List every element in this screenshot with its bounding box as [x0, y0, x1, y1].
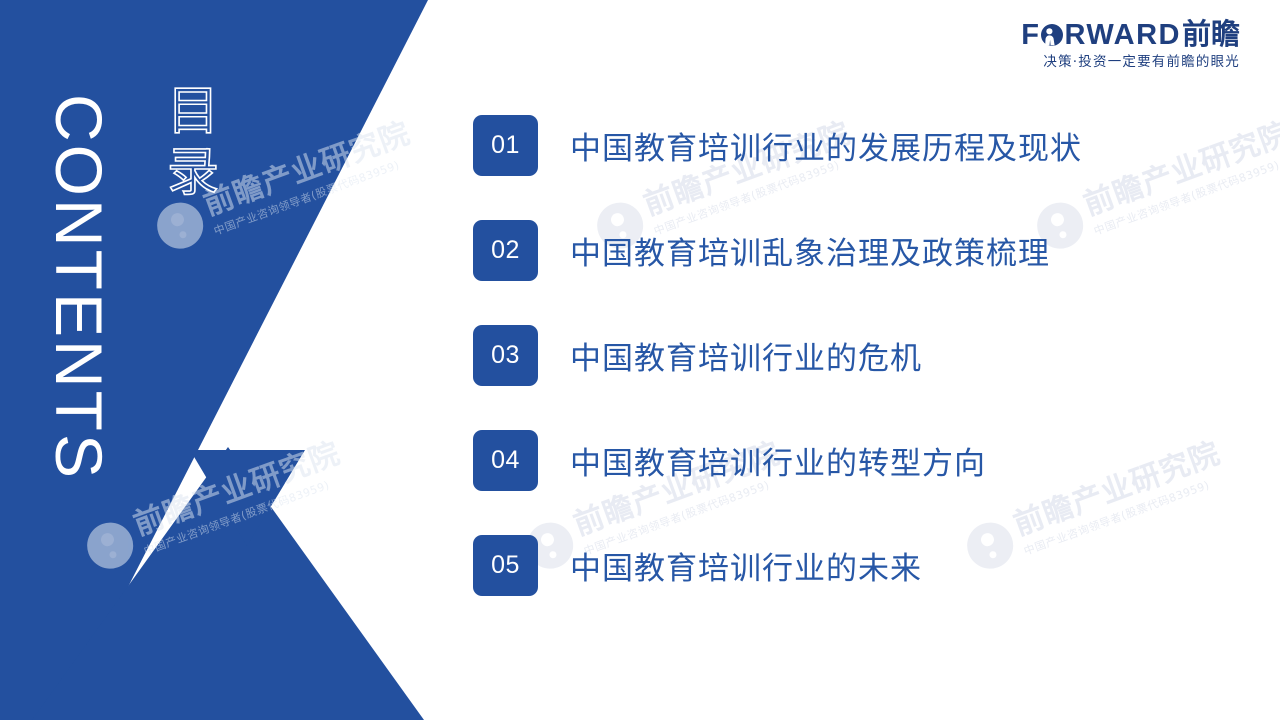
forward-person-o-icon: [1040, 23, 1064, 47]
mulu-char-lu: 录: [148, 143, 238, 204]
agenda-list: 01 中国教育培训行业的发展历程及现状 02 中国教育培训乱象治理及政策梳理 0…: [473, 112, 1233, 637]
brand-letter-f: F: [1021, 19, 1040, 51]
agenda-item-05[interactable]: 05 中国教育培训行业的未来: [473, 532, 1233, 598]
agenda-item-label: 中国教育培训行业的未来: [570, 543, 922, 588]
slide-canvas: 前瞻产业研究院 中国产业咨询领导者(股票代码83959) 前瞻产业研究院 中国产…: [0, 0, 1280, 720]
agenda-item-label: 中国教育培训行业的转型方向: [570, 438, 986, 483]
brand-wordmark: F RWARD: [1021, 21, 1181, 50]
mulu-char-mu: 目: [148, 82, 238, 143]
mulu-heading: 目 录: [148, 82, 238, 205]
contents-title-block: CONTENTS 目 录: [0, 0, 430, 720]
agenda-number-badge: 01: [473, 115, 538, 176]
agenda-item-label: 中国教育培训乱象治理及政策梳理: [570, 228, 1050, 273]
agenda-number-badge: 02: [473, 220, 538, 281]
brand-logo: F RWARD 前瞻 决策·投资一定要有前瞻的眼光: [1021, 20, 1240, 70]
brand-letters-rward: RWARD: [1064, 19, 1181, 51]
agenda-number-badge: 05: [473, 535, 538, 596]
agenda-item-label: 中国教育培训行业的发展历程及现状: [570, 123, 1082, 168]
brand-wordmark-zh: 前瞻: [1182, 20, 1240, 49]
agenda-item-label: 中国教育培训行业的危机: [570, 333, 922, 378]
agenda-item-01[interactable]: 01 中国教育培训行业的发展历程及现状: [473, 112, 1233, 178]
brand-logo-row: F RWARD 前瞻: [1021, 20, 1240, 50]
agenda-number-badge: 04: [473, 430, 538, 491]
agenda-item-04[interactable]: 04 中国教育培训行业的转型方向: [473, 427, 1233, 493]
brand-tagline: 决策·投资一定要有前瞻的眼光: [1021, 56, 1240, 70]
contents-heading: CONTENTS: [46, 94, 112, 424]
agenda-number-badge: 03: [473, 325, 538, 386]
agenda-item-03[interactable]: 03 中国教育培训行业的危机: [473, 322, 1233, 388]
agenda-item-02[interactable]: 02 中国教育培训乱象治理及政策梳理: [473, 217, 1233, 283]
